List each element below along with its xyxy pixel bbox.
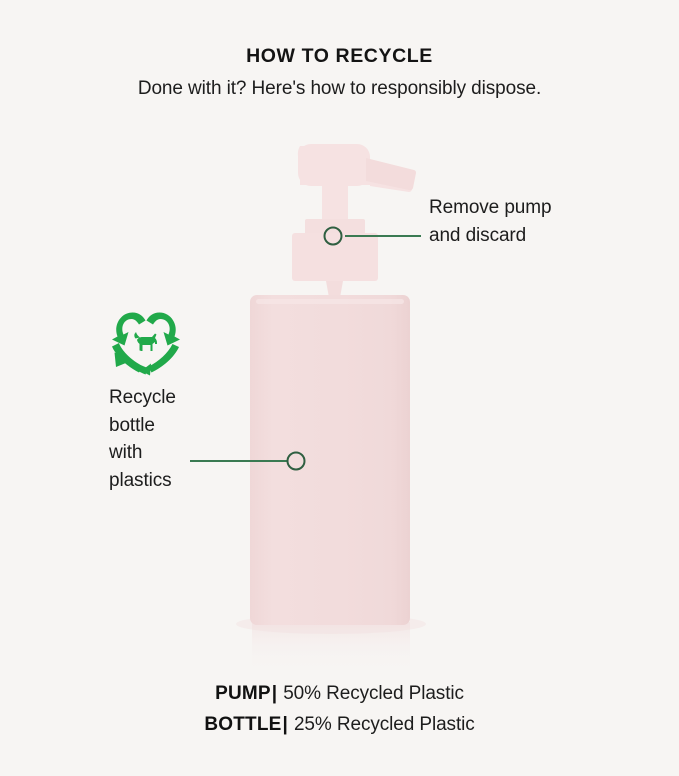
spec-row-pump: PUMP| 50% Recycled Plastic <box>0 678 679 709</box>
leader-marker-bottle <box>288 453 305 470</box>
spec-separator-bottle: | <box>282 714 289 735</box>
spec-value-bottle: 25% Recycled Plastic <box>294 714 475 735</box>
material-specs: PUMP| 50% Recycled Plastic BOTTLE| 25% R… <box>0 678 679 740</box>
callout-leader-lines <box>0 0 679 776</box>
recycle-heart-dog-icon <box>108 306 184 378</box>
spec-separator-pump: | <box>271 683 278 704</box>
dog-silhouette <box>134 332 157 351</box>
callout-label-bottle: Recycle bottle with plastics <box>109 384 176 494</box>
spec-label-bottle: BOTTLE <box>204 714 281 735</box>
leader-marker-pump <box>325 228 342 245</box>
spec-value-pump: 50% Recycled Plastic <box>283 683 464 704</box>
spec-row-bottle: BOTTLE| 25% Recycled Plastic <box>0 709 679 740</box>
recycle-infographic: HOW TO RECYCLE Done with it? Here's how … <box>0 0 679 776</box>
callout-label-pump: Remove pump and discard <box>429 194 551 249</box>
spec-label-pump: PUMP <box>215 683 271 704</box>
